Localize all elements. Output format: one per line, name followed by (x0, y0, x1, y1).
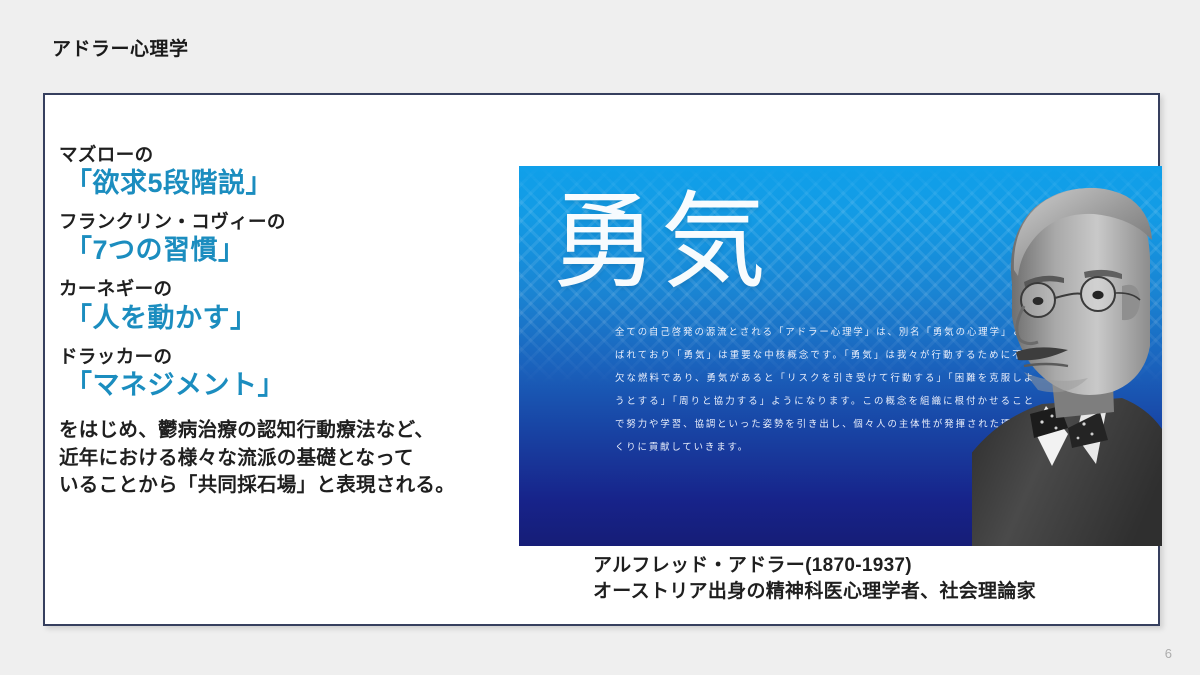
page-number: 6 (1165, 646, 1172, 661)
entry-title: 「7つの習慣」 (57, 233, 527, 268)
portrait-illustration (972, 166, 1162, 546)
caption-line-role: オーストリア出身の精神科医心理学者、社会理論家 (593, 579, 1036, 605)
page-title: アドラー心理学 (52, 34, 189, 61)
content-card: マズローの 「欲求5段階説」 フランクリン・コヴィーの 「7つの習慣」 カーネギ… (43, 93, 1160, 626)
summary-paragraph-line: をはじめ、鬱病治療の認知行動療法など、 (59, 417, 527, 445)
summary-paragraph-line: いることから「共同採石場」と表現される。 (59, 472, 527, 500)
entry-label: カーネギーの (57, 277, 527, 300)
entry-label: マズローの (57, 143, 527, 166)
adler-portrait (972, 166, 1162, 546)
list-item: マズローの 「欲求5段階説」 (57, 143, 527, 201)
entry-title: 「マネジメント」 (57, 368, 527, 403)
list-item: カーネギーの 「人を動かす」 (57, 277, 527, 335)
caption-line-name: アルフレッド・アドラー(1870-1937) (593, 553, 1036, 579)
figure: 勇気 全ての自己啓発の源流とされる「アドラー心理学」は、別名「勇気の心理学」と呼… (519, 166, 1162, 546)
figure-image: 勇気 全ての自己啓発の源流とされる「アドラー心理学」は、別名「勇気の心理学」と呼… (519, 166, 1162, 546)
summary-paragraph: をはじめ、鬱病治療の認知行動療法など、 近年における様々な流派の基礎となって い… (57, 417, 527, 500)
entry-title: 「人を動かす」 (57, 301, 527, 336)
summary-paragraph-line: 近年における様々な流派の基礎となって (59, 445, 527, 473)
figure-caption: アルフレッド・アドラー(1870-1937) オーストリア出身の精神科医心理学者… (593, 553, 1036, 605)
concept-list: マズローの 「欲求5段階説」 フランクリン・コヴィーの 「7つの習慣」 カーネギ… (57, 143, 527, 500)
list-item: ドラッカーの 「マネジメント」 (57, 345, 527, 403)
entry-title: 「欲求5段階説」 (57, 166, 527, 201)
list-item: フランクリン・コヴィーの 「7つの習慣」 (57, 210, 527, 268)
entry-label: ドラッカーの (57, 345, 527, 368)
entry-label: フランクリン・コヴィーの (57, 210, 527, 233)
calligraphy-text: 勇気 (552, 182, 770, 303)
